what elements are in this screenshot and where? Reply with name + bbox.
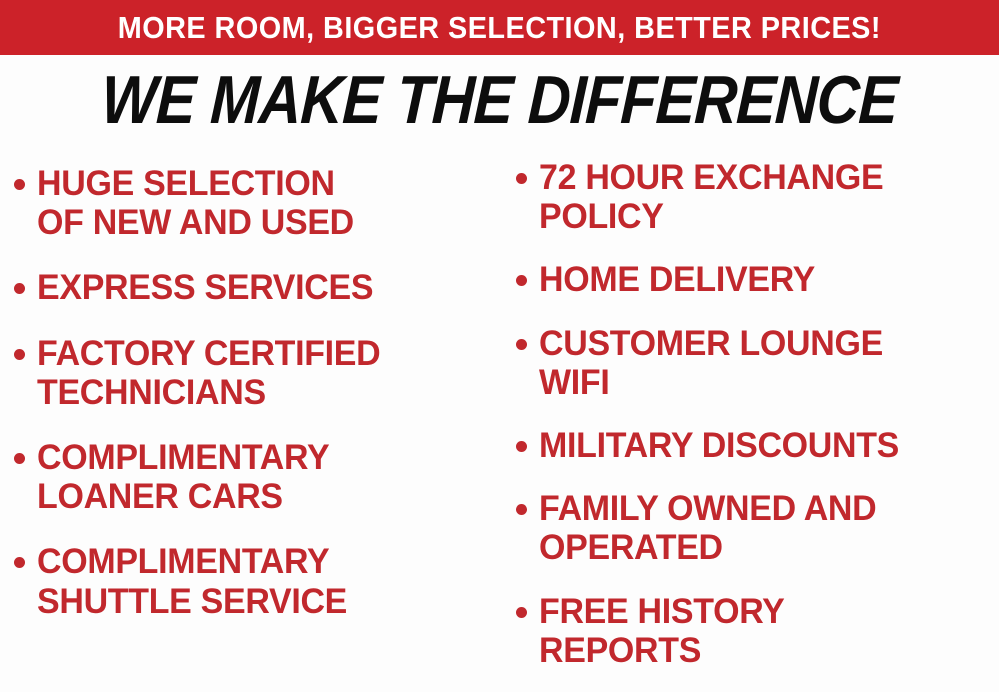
advertisement-banner: MORE ROOM, BIGGER SELECTION, BETTER PRIC… <box>0 0 999 692</box>
bullet-dot-icon <box>14 283 25 294</box>
headline-text: WE MAKE THE DIFFERENCE <box>100 66 899 134</box>
list-item: FAMILY OWNED AND OPERATED <box>516 489 999 567</box>
list-item: MILITARY DISCOUNTS <box>516 426 999 465</box>
bullet-dot-icon <box>516 504 527 515</box>
list-item-label: MILITARY DISCOUNTS <box>539 426 899 465</box>
list-item: CUSTOMER LOUNGE WIFI <box>516 324 999 402</box>
list-item: HUGE SELECTION OF NEW AND USED <box>14 164 505 242</box>
promo-banner-text: MORE ROOM, BIGGER SELECTION, BETTER PRIC… <box>118 12 881 43</box>
bullet-dot-icon <box>516 173 527 184</box>
list-item: FACTORY CERTIFIED TECHNICIANS <box>14 334 505 412</box>
benefits-column-left: HUGE SELECTION OF NEW AND USED EXPRESS S… <box>0 158 505 647</box>
bullet-dot-icon <box>516 339 527 350</box>
list-item-label: 72 HOUR EXCHANGE POLICY <box>539 158 883 236</box>
list-item-label: COMPLIMENTARY LOANER CARS <box>37 438 329 516</box>
list-item: 72 HOUR EXCHANGE POLICY <box>516 158 999 236</box>
bullet-dot-icon <box>516 607 527 618</box>
benefits-column-right: 72 HOUR EXCHANGE POLICY HOME DELIVERY CU… <box>505 158 999 692</box>
list-item: COMPLIMENTARY LOANER CARS <box>14 438 505 516</box>
list-item-label: HUGE SELECTION OF NEW AND USED <box>37 164 354 242</box>
promo-banner: MORE ROOM, BIGGER SELECTION, BETTER PRIC… <box>0 0 999 55</box>
list-item-label: FACTORY CERTIFIED TECHNICIANS <box>37 334 380 412</box>
bullet-dot-icon <box>516 441 527 452</box>
benefits-columns: HUGE SELECTION OF NEW AND USED EXPRESS S… <box>0 158 999 692</box>
bullet-dot-icon <box>14 453 25 464</box>
bullet-dot-icon <box>516 275 527 286</box>
list-item-label: COMPLIMENTARY SHUTTLE SERVICE <box>37 542 347 620</box>
list-item-label: FREE HISTORY REPORTS <box>539 592 785 670</box>
list-item-label: FAMILY OWNED AND OPERATED <box>539 489 876 567</box>
bullet-dot-icon <box>14 557 25 568</box>
list-item: COMPLIMENTARY SHUTTLE SERVICE <box>14 542 505 620</box>
list-item: HOME DELIVERY <box>516 260 999 299</box>
list-item: EXPRESS SERVICES <box>14 268 505 307</box>
list-item: FREE HISTORY REPORTS <box>516 592 999 670</box>
list-item-label: HOME DELIVERY <box>539 260 815 299</box>
list-item-label: CUSTOMER LOUNGE WIFI <box>539 324 883 402</box>
headline: WE MAKE THE DIFFERENCE <box>0 66 999 134</box>
bullet-dot-icon <box>14 179 25 190</box>
list-item-label: EXPRESS SERVICES <box>37 268 373 307</box>
bullet-dot-icon <box>14 349 25 360</box>
